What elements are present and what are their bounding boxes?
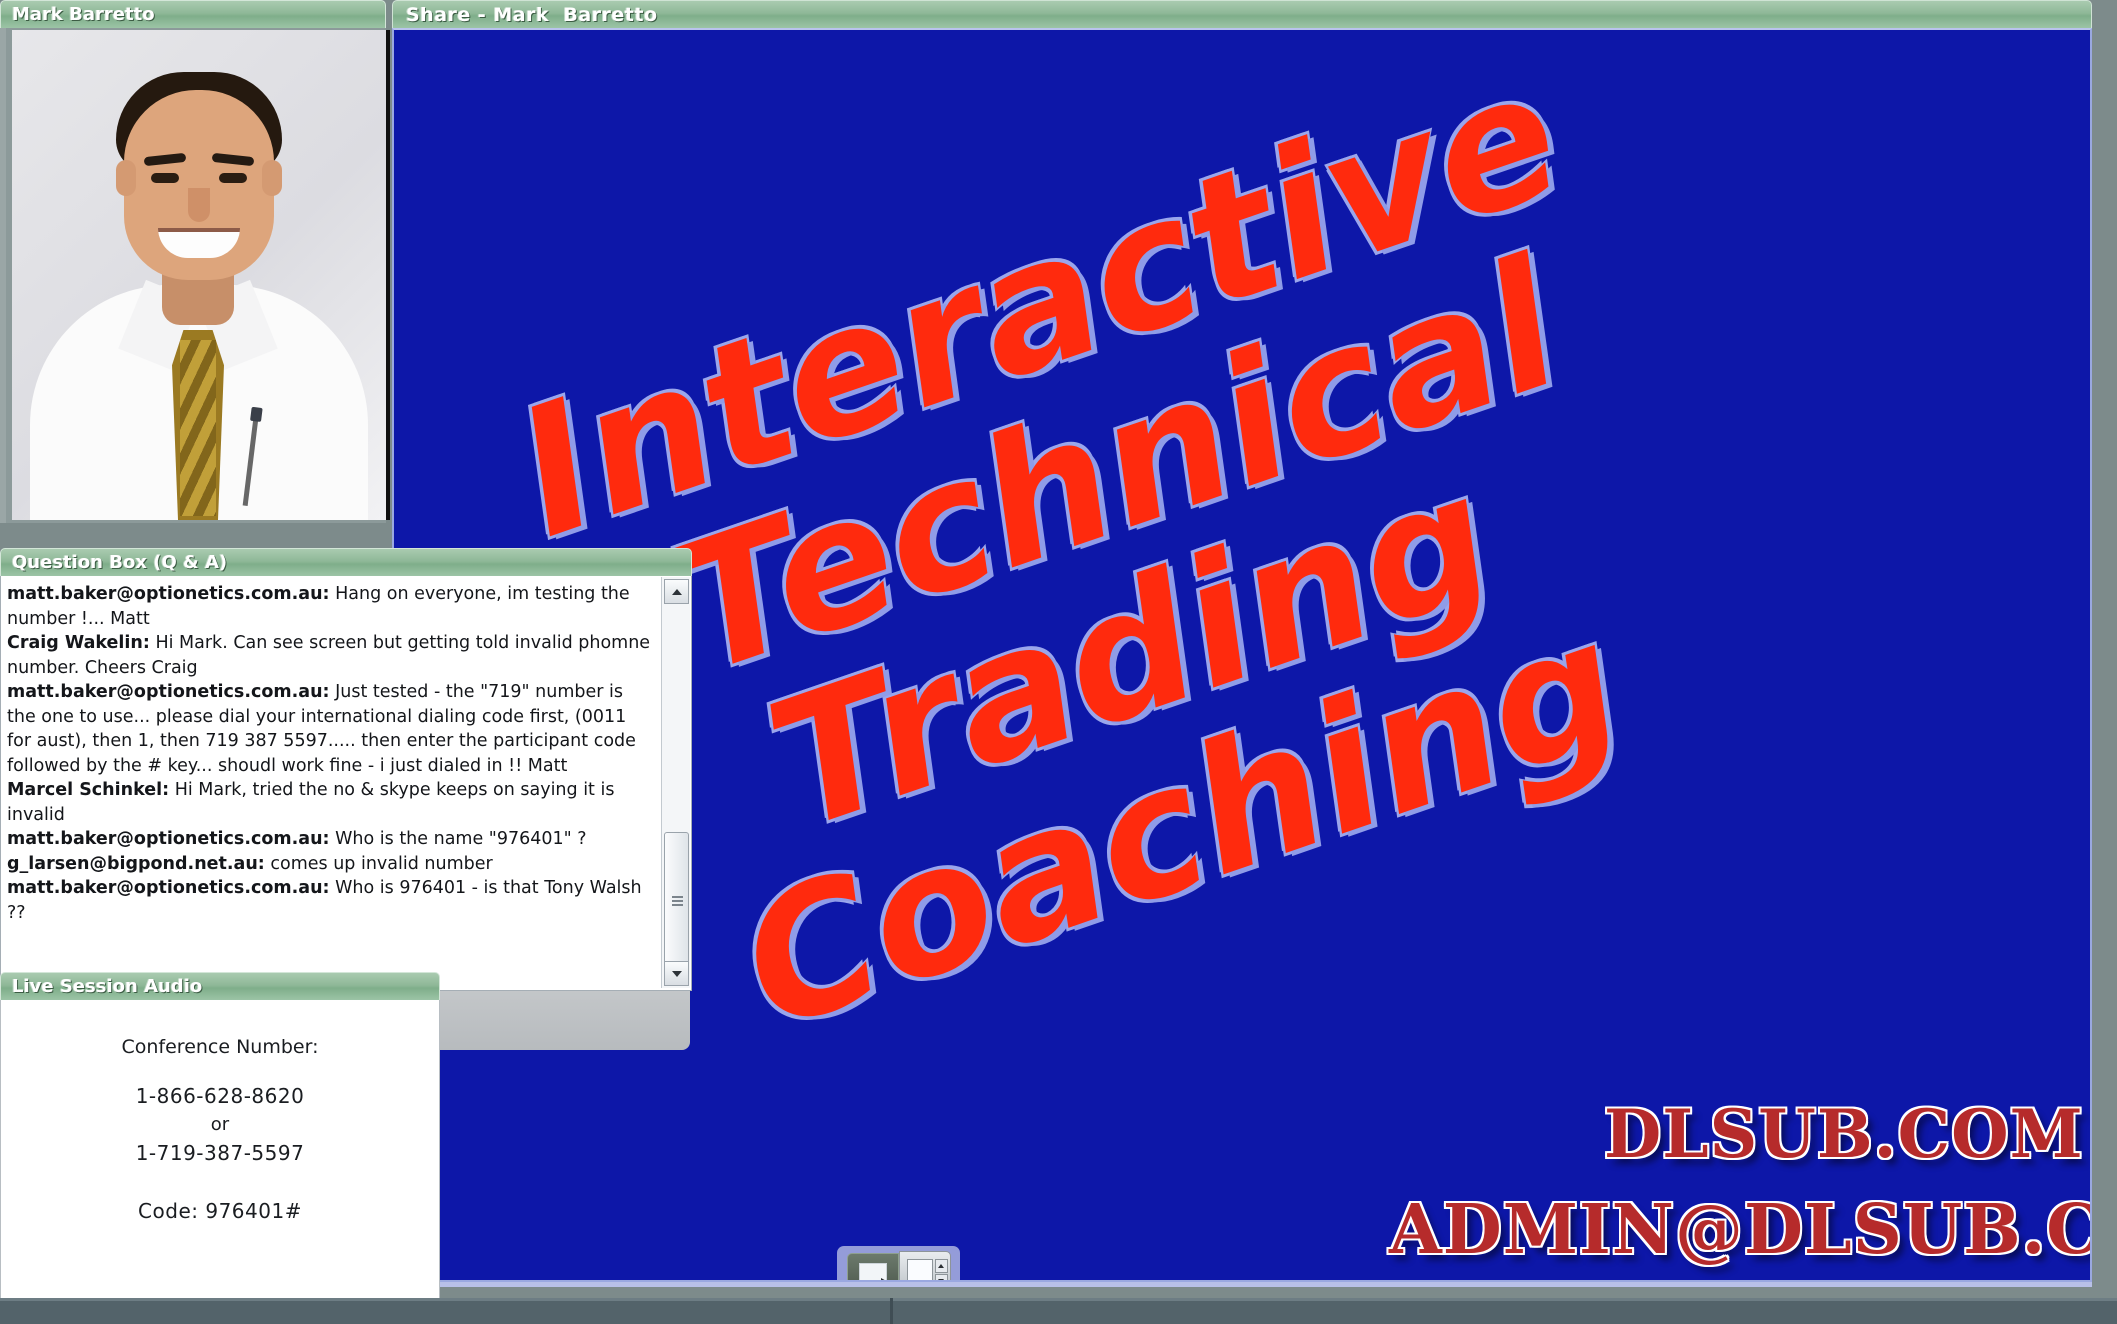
chat-message-author: Marcel Schinkel: [7, 780, 169, 800]
desktop-root: Share - Mark Barretto Interactive Techni… [0, 0, 2117, 1324]
conference-number-label: Conference Number: [1, 1036, 439, 1058]
webcam-video[interactable] [12, 30, 390, 520]
question-box-scrollbar[interactable] [661, 577, 690, 988]
scrollbar-thumb[interactable] [664, 832, 689, 972]
portrait-eye-left [151, 173, 179, 183]
live-audio-titlebar[interactable]: Live Session Audio [0, 972, 440, 1000]
chat-message-text: Who is the name "976401" ? [330, 829, 587, 849]
share-window-bottom-edge [392, 1282, 2092, 1287]
share-title-label: Share - Mark Barretto [406, 4, 658, 26]
chat-message: matt.baker@optionetics.com.au: Just test… [7, 680, 655, 778]
bottom-strip-highlight [0, 1298, 2117, 1301]
question-box-window: Question Box (Q & A) matt.baker@optionet… [0, 548, 692, 998]
chat-message: g_larsen@bigpond.net.au: comes up invali… [7, 852, 655, 877]
live-audio-body: Conference Number: 1-866-628-8620 or 1-7… [0, 1000, 440, 1310]
page-icon [907, 1259, 933, 1282]
live-audio-title-label: Live Session Audio [12, 976, 202, 997]
question-box-titlebar[interactable]: Question Box (Q & A) [0, 548, 692, 576]
conference-number-secondary: 1-719-387-5597 [1, 1141, 439, 1165]
webcam-titlebar[interactable]: Mark Barretto [0, 0, 386, 28]
chat-message-author: matt.baker@optionetics.com.au: [7, 584, 330, 604]
webcam-window: Mark Barretto [0, 0, 386, 542]
page-nav-button[interactable] [899, 1251, 951, 1282]
scrollbar-grip-icon [672, 896, 683, 908]
question-box-title-label: Question Box (Q & A) [12, 552, 227, 573]
chat-message: matt.baker@optionetics.com.au: Who is 97… [7, 876, 655, 925]
chat-message-author: matt.baker@optionetics.com.au: [7, 682, 330, 702]
desktop-bottom-strip [0, 1298, 2117, 1324]
question-box-message-list[interactable]: matt.baker@optionetics.com.au: Hang on e… [1, 578, 661, 984]
portrait-eye-right [219, 173, 247, 183]
portrait-ear-left [116, 160, 136, 196]
watermark-email: ADMIN@DLSUB.COM [1389, 1190, 2092, 1270]
watermark-site: DLSUB.COM [1604, 1095, 2084, 1173]
conference-number-primary: 1-866-628-8620 [1, 1084, 439, 1108]
portrait-ear-right [262, 160, 282, 196]
chat-message: matt.baker@optionetics.com.au: Hang on e… [7, 582, 655, 631]
chat-message-text: comes up invalid number [265, 854, 493, 874]
chat-message: matt.baker@optionetics.com.au: Who is th… [7, 827, 655, 852]
chat-message-author: Craig Wakelin: [7, 633, 150, 653]
live-audio-window: Live Session Audio Conference Number: 1-… [0, 972, 440, 1312]
chat-message-author: g_larsen@bigpond.net.au: [7, 854, 265, 874]
bottom-strip-divider [890, 1298, 893, 1324]
conference-number-separator: or [1, 1114, 439, 1135]
chat-message-author: matt.baker@optionetics.com.au: [7, 829, 330, 849]
scroll-up-arrow-icon[interactable] [664, 579, 689, 604]
presentation-hero-title: Interactive Technical Trading Coaching [490, 28, 2008, 1155]
webcam-frame [0, 28, 386, 523]
portrait-necktie [172, 330, 224, 520]
chat-message-author: matt.baker@optionetics.com.au: [7, 878, 330, 898]
page-up-icon[interactable] [935, 1259, 948, 1273]
webcam-title-label: Mark Barretto [12, 4, 155, 25]
question-box-body[interactable]: matt.baker@optionetics.com.au: Hang on e… [0, 576, 692, 991]
share-titlebar[interactable]: Share - Mark Barretto [392, 0, 2092, 28]
page-down-icon[interactable] [935, 1274, 948, 1282]
screen-share-button[interactable] [847, 1253, 899, 1282]
scroll-down-arrow-icon[interactable] [664, 961, 689, 986]
conference-code: Code: 976401# [1, 1199, 439, 1223]
portrait-nose [188, 188, 210, 222]
chat-message: Marcel Schinkel: Hi Mark, tried the no &… [7, 778, 655, 827]
chat-message: Craig Wakelin: Hi Mark. Can see screen b… [7, 631, 655, 680]
share-floating-toolbar[interactable] [837, 1246, 960, 1282]
